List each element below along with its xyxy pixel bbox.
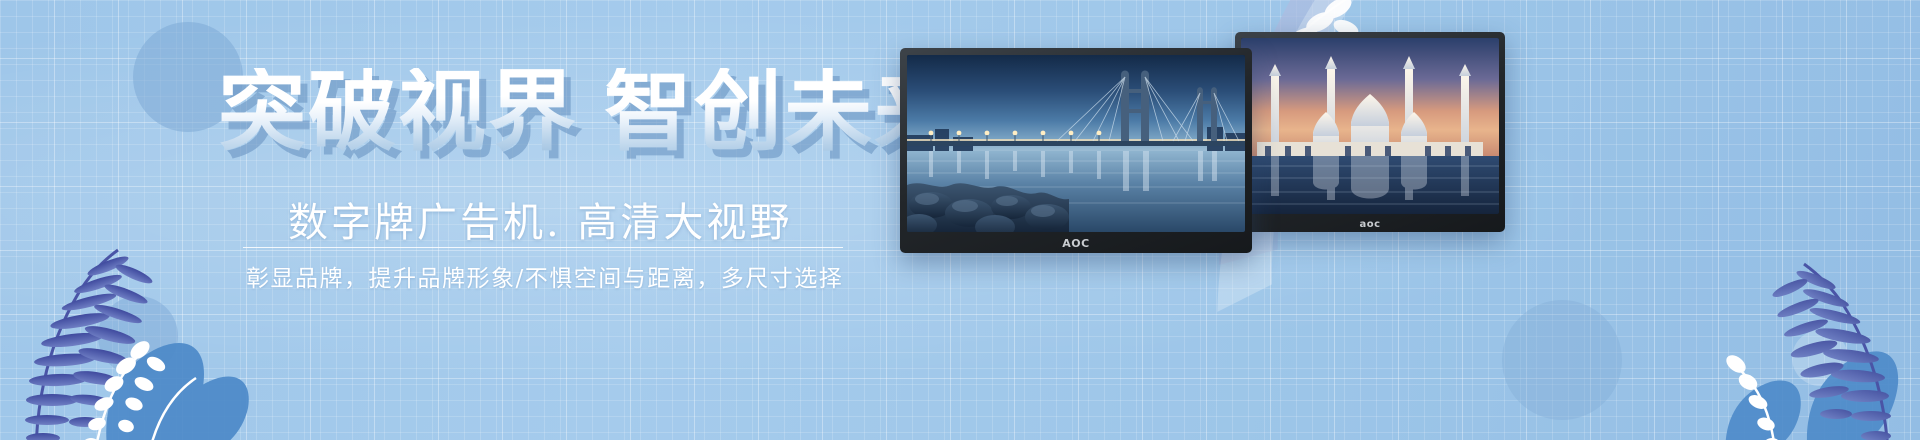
mosque-at-dusk-photo [1241,38,1499,214]
monitor-front-brand-logo: AOC [1062,237,1089,250]
divider-rule [243,247,843,248]
product-monitors-group: aoc [890,0,1550,440]
monitor-back-brand-logo: aoc [1359,219,1380,230]
monitor-front-stand-neck [1045,253,1087,319]
monitor-back-screen [1241,38,1499,214]
monitor-front-screen [907,55,1245,232]
banner-copy-block: 突破视界 智创未来 数字牌广告机. 高清大视野 彰显品牌，提升品牌形象/不惧空间… [0,0,1040,440]
monitor-back-stand-neck [1353,232,1387,294]
promo-banner: 突破视界 智创未来 数字牌广告机. 高清大视野 彰显品牌，提升品牌形象/不惧空间… [0,0,1920,440]
tagline: 彰显品牌，提升品牌形象/不惧空间与距离，多尺寸选择 [246,259,843,293]
headline: 突破视界 智创未来 [218,68,964,156]
bridge-over-water-photo [907,55,1245,232]
headline-part-1: 突破视界 [218,68,578,156]
monitor-back[interactable]: aoc [1235,32,1505,232]
decorative-circle-small-right [1792,330,1848,386]
monitor-front[interactable]: AOC [900,48,1252,253]
subtitle: 数字牌广告机. 高清大视野 [288,190,792,248]
monitor-back-stand-base [1310,288,1432,310]
monitor-front-stand-base [995,312,1139,338]
foliage-cluster-bottom-right-icon [1626,206,1920,440]
